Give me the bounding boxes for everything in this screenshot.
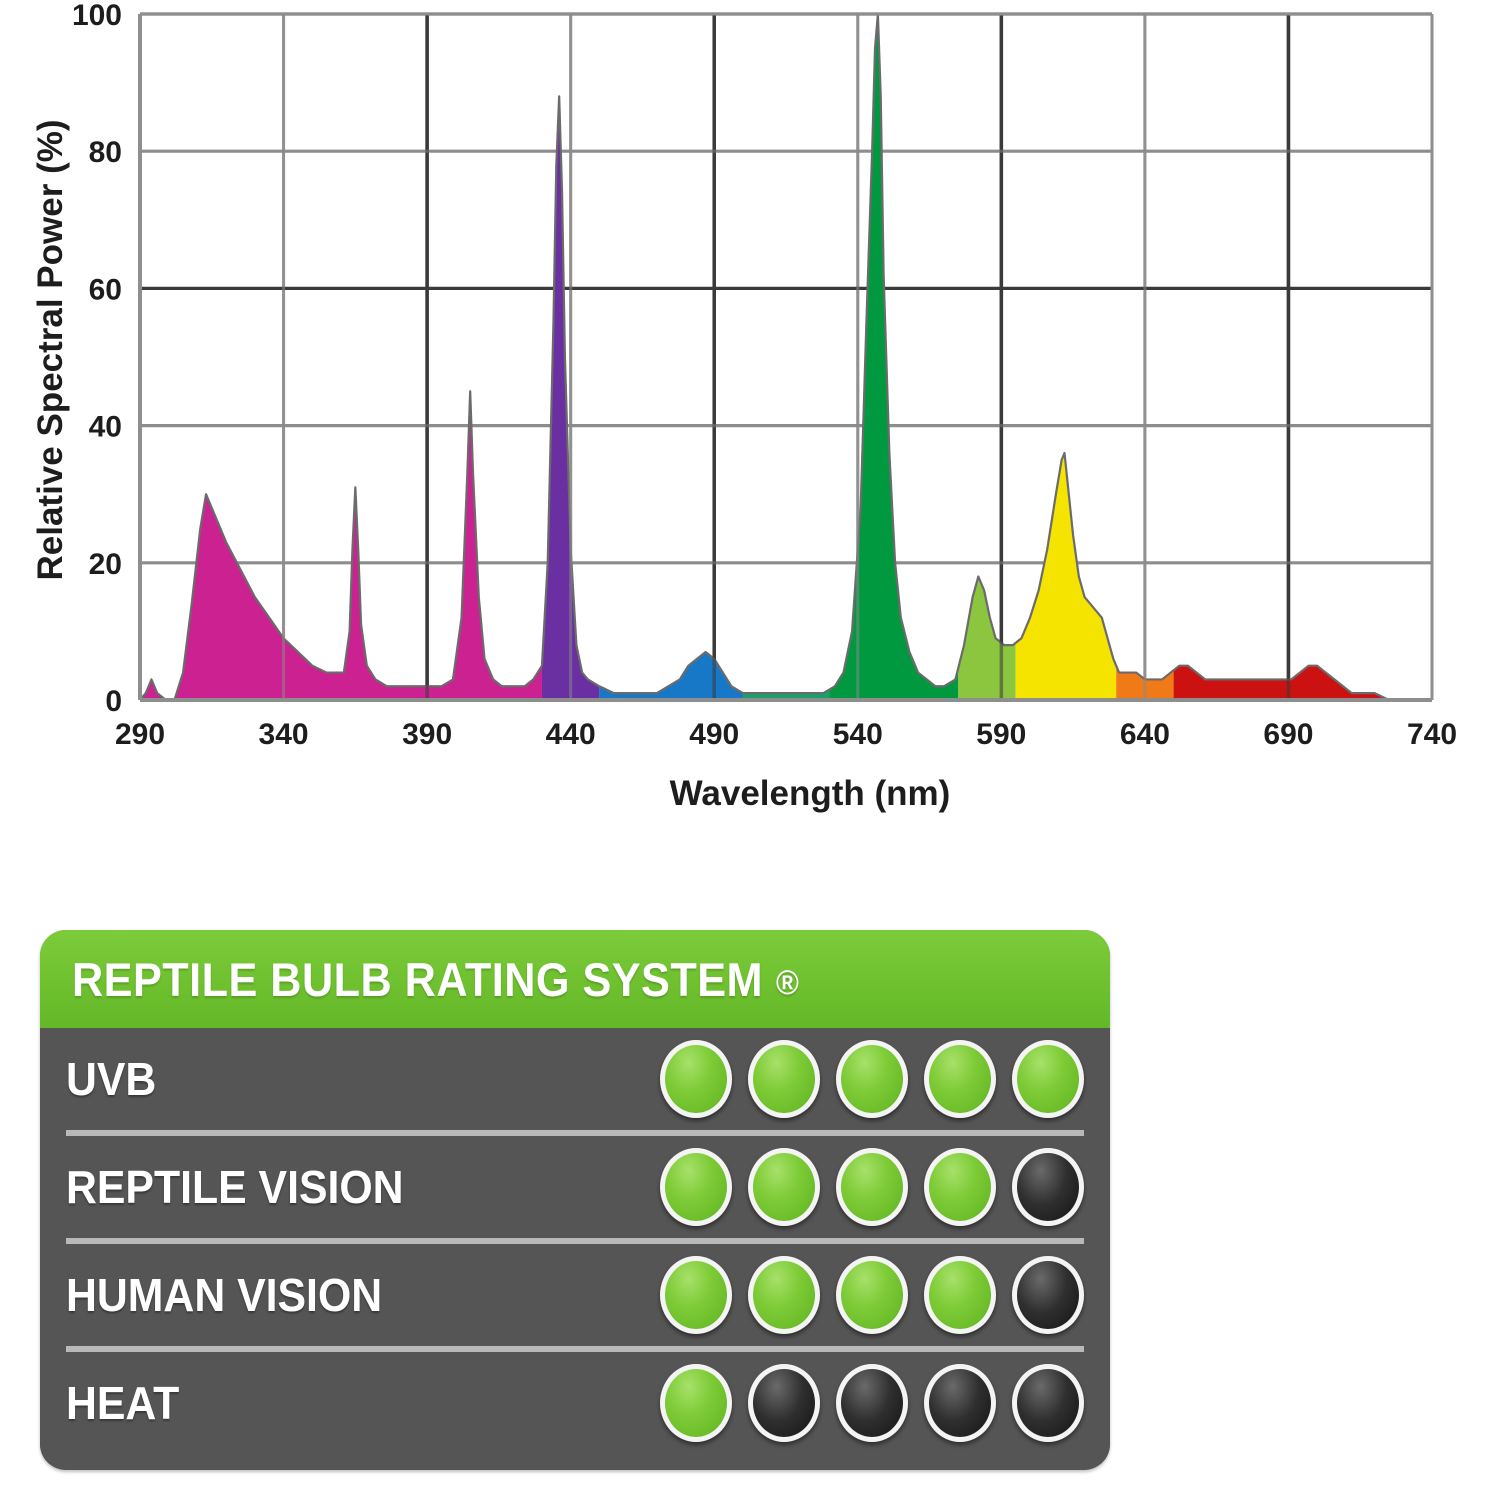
x-tick-490: 490	[689, 718, 739, 751]
rating-card-body: UVBREPTILE VISIONHUMAN VISIONHEAT	[40, 1028, 1110, 1464]
rating-dot-filled	[836, 1148, 908, 1226]
chart-spectrum-area	[140, 14, 1432, 700]
rating-dots	[660, 1040, 1084, 1118]
rating-dot-filled	[924, 1148, 996, 1226]
rating-row-label: UVB	[66, 1052, 503, 1106]
x-tick-390: 390	[402, 718, 452, 751]
rating-dot-empty	[924, 1364, 996, 1442]
rating-dot-filled	[748, 1256, 820, 1334]
rating-dot-empty	[1012, 1364, 1084, 1442]
chart-gridlines-front	[284, 14, 1432, 700]
rating-dot-filled	[660, 1256, 732, 1334]
y-tick-100: 100	[72, 0, 122, 32]
rating-dot-filled	[748, 1040, 820, 1118]
rating-card-title: REPTILE BULB RATING SYSTEM®	[72, 952, 799, 1007]
chart-axes	[140, 14, 1432, 700]
rating-row-reptile-vision: REPTILE VISION	[66, 1130, 1084, 1238]
x-tick-690: 690	[1263, 718, 1313, 751]
rating-dot-filled	[924, 1256, 996, 1334]
x-axis-title: Wavelength (nm)	[670, 774, 951, 813]
rating-row-uvb: UVB	[66, 1028, 1084, 1130]
y-tick-40: 40	[89, 411, 122, 444]
spectral-power-chart: 290340390440490540590640690740 020406080…	[0, 0, 1500, 830]
y-tick-0: 0	[105, 685, 122, 718]
x-tick-440: 440	[546, 718, 596, 751]
y-axis-tick-labels: 020406080100	[72, 0, 122, 718]
rating-card-title-text: REPTILE BULB RATING SYSTEM	[72, 953, 763, 1006]
rating-dot-empty	[748, 1364, 820, 1442]
x-tick-340: 340	[259, 718, 309, 751]
rating-dots	[660, 1364, 1084, 1442]
rating-dot-filled	[748, 1148, 820, 1226]
rating-row-label: HEAT	[66, 1376, 503, 1430]
rating-dot-filled	[836, 1256, 908, 1334]
x-axis-tick-labels: 290340390440490540590640690740	[115, 718, 1457, 751]
rating-dots	[660, 1148, 1084, 1226]
x-tick-640: 640	[1120, 718, 1170, 751]
x-tick-740: 740	[1407, 718, 1457, 751]
chart-canvas: 290340390440490540590640690740 020406080…	[0, 0, 1500, 830]
rating-row-label: HUMAN VISION	[66, 1268, 503, 1322]
rating-dot-filled	[1012, 1040, 1084, 1118]
y-tick-20: 20	[89, 548, 122, 581]
x-tick-290: 290	[115, 718, 165, 751]
reptile-bulb-rating-card: REPTILE BULB RATING SYSTEM® UVBREPTILE V…	[40, 930, 1110, 1470]
x-tick-590: 590	[976, 718, 1026, 751]
rating-dots	[660, 1256, 1084, 1334]
y-tick-80: 80	[89, 136, 122, 169]
chart-gridlines	[140, 14, 1432, 700]
registered-trademark-icon: ®	[776, 964, 800, 1003]
rating-row-label: REPTILE VISION	[66, 1160, 503, 1214]
y-tick-60: 60	[89, 273, 122, 306]
rating-row-heat: HEAT	[66, 1346, 1084, 1454]
rating-dot-empty	[836, 1364, 908, 1442]
y-axis-title: Relative Spectral Power (%)	[31, 120, 70, 581]
rating-dot-filled	[660, 1364, 732, 1442]
rating-dot-filled	[836, 1040, 908, 1118]
rating-dot-empty	[1012, 1148, 1084, 1226]
x-tick-540: 540	[833, 718, 883, 751]
rating-row-human-vision: HUMAN VISION	[66, 1238, 1084, 1346]
rating-card-header: REPTILE BULB RATING SYSTEM®	[40, 930, 1110, 1028]
rating-dot-filled	[660, 1040, 732, 1118]
rating-dot-empty	[1012, 1256, 1084, 1334]
rating-dot-filled	[924, 1040, 996, 1118]
rating-dot-filled	[660, 1148, 732, 1226]
